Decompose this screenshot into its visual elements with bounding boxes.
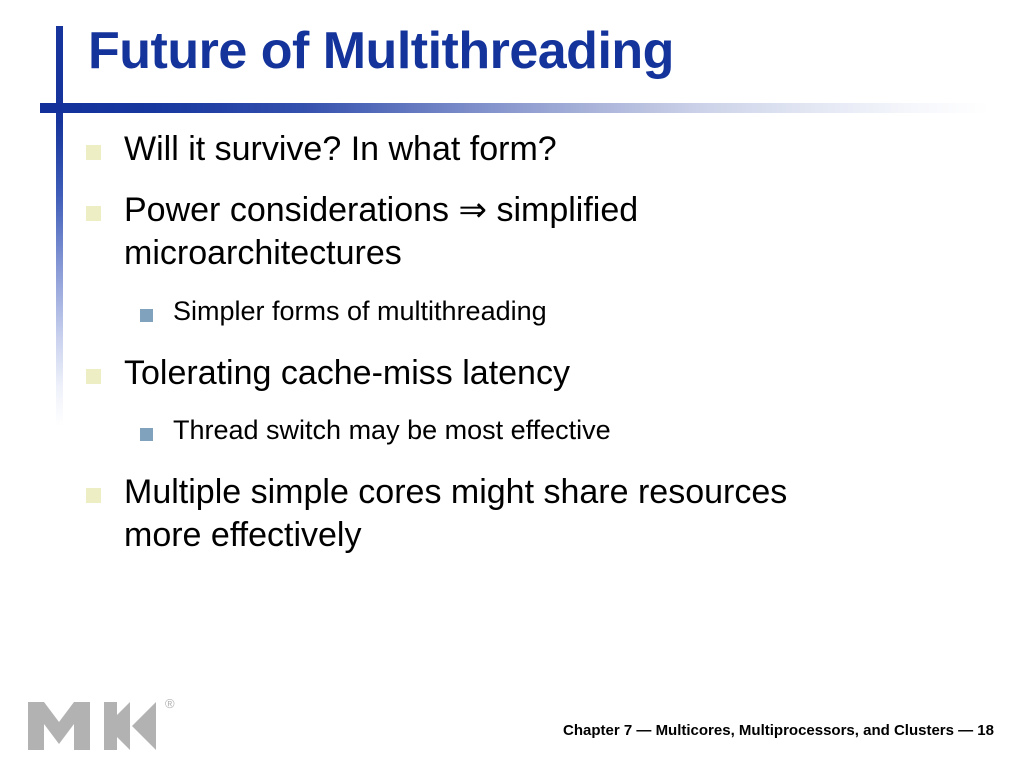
bullet-marker-icon xyxy=(86,369,101,384)
bullet-item: Tolerating cache-miss latency xyxy=(0,352,1024,395)
bullet-text: Power considerations ⇒ simplified microa… xyxy=(124,189,844,275)
registered-trademark-icon: ® xyxy=(165,696,175,711)
bullet-text: Multiple simple cores might share resour… xyxy=(124,471,844,557)
sub-bullet-marker-icon xyxy=(140,309,153,322)
bullet-marker-icon xyxy=(86,488,101,503)
page-title: Future of Multithreading xyxy=(88,22,674,82)
slide-header: Future of Multithreading xyxy=(0,0,1024,122)
bullet-marker-icon xyxy=(86,145,101,160)
bullet-text: Will it survive? In what form? xyxy=(124,128,557,171)
sub-bullet-item: Thread switch may be most effective xyxy=(0,413,1024,447)
slide-footer: ® Chapter 7 — Multicores, Multiprocessor… xyxy=(0,688,1024,768)
spacer xyxy=(0,455,1024,471)
spacer xyxy=(0,336,1024,352)
sub-bullet-text: Simpler forms of multithreading xyxy=(173,294,547,328)
spacer xyxy=(0,284,1024,294)
footer-caption: Chapter 7 — Multicores, Multiprocessors,… xyxy=(0,722,994,739)
slide-body: Will it survive? In what form? Power con… xyxy=(0,128,1024,566)
sub-bullet-item: Simpler forms of multithreading xyxy=(0,294,1024,328)
spacer xyxy=(0,403,1024,413)
spacer xyxy=(0,179,1024,189)
bullet-item: Multiple simple cores might share resour… xyxy=(0,471,1024,557)
bullet-marker-icon xyxy=(86,206,101,221)
bullet-item: Power considerations ⇒ simplified microa… xyxy=(0,189,1024,275)
title-horizontal-rule xyxy=(40,103,990,113)
bullet-text: Tolerating cache-miss latency xyxy=(124,352,570,395)
presentation-slide: Future of Multithreading Will it survive… xyxy=(0,0,1024,768)
sub-bullet-marker-icon xyxy=(140,428,153,441)
sub-bullet-text: Thread switch may be most effective xyxy=(173,413,611,447)
bullet-item: Will it survive? In what form? xyxy=(0,128,1024,171)
